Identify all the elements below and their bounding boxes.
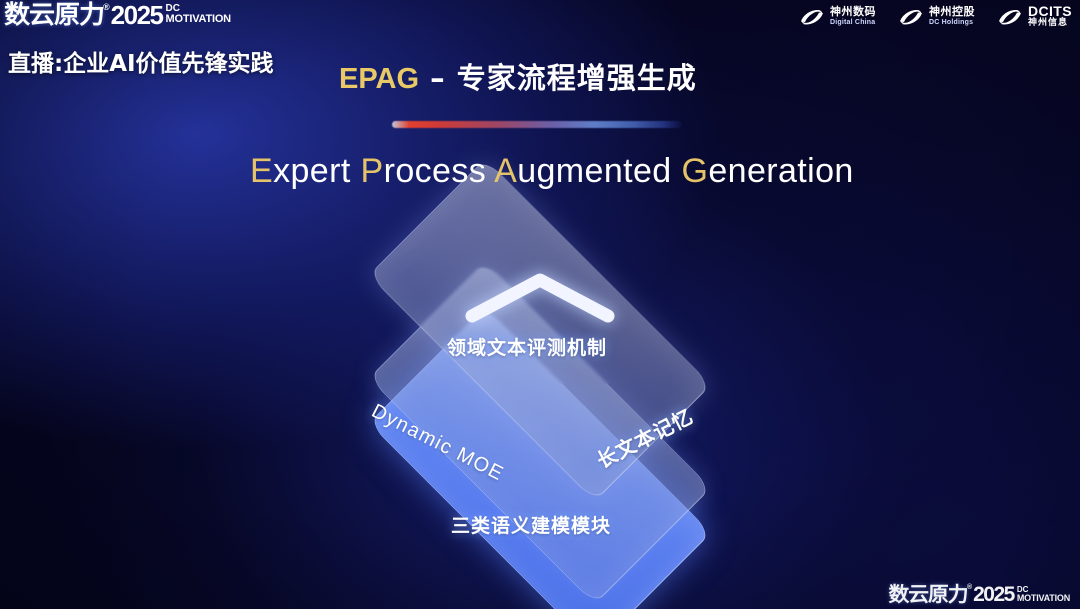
partner-label: 神州数码 Digital China — [830, 6, 876, 27]
brand-motivation: MOTIVATION — [166, 14, 231, 25]
registered-mark-icon: ® — [967, 584, 972, 591]
slide-canvas: 数云原力 ® 2025 DC MOTIVATION 直播:企业AI价值先锋实践 … — [0, 0, 1080, 609]
swirl-logo-icon — [799, 6, 825, 28]
brand-logo-topleft: 数云原力 ® 2025 DC MOTIVATION — [6, 2, 231, 28]
partner-name-en: DC Holdings — [929, 18, 975, 27]
partner-logo-dcits: DCITS 神州信息 — [997, 4, 1072, 29]
live-banner: 直播:企业AI价值先锋实践 — [8, 44, 274, 78]
gradient-divider — [392, 121, 682, 128]
subtitle-word-augmented: ugmented — [517, 152, 681, 190]
partner-name-cn: 神州信息 — [1028, 18, 1072, 29]
swirl-logo-icon — [997, 6, 1023, 28]
subtitle: Expert Process Augmented Generation — [250, 152, 854, 191]
partner-name-cn: 神州数码 — [830, 6, 876, 18]
subtitle-cap-e: E — [250, 152, 273, 190]
brand-year: 2025 — [111, 2, 163, 28]
brand-dc-motivation: DC MOTIVATION — [1017, 584, 1070, 603]
stack-label-bottom: 三类语义建模模块 — [451, 511, 611, 538]
title-acronym: EPAG — [339, 63, 419, 95]
subtitle-cap-a: A — [494, 152, 517, 190]
swirl-logo-icon — [898, 6, 924, 28]
page-title: EPAG – 专家流程增强生成 — [339, 55, 697, 97]
chevron-up-icon — [462, 268, 618, 326]
subtitle-word-expert: xpert — [273, 152, 360, 190]
partner-logo-bar: 神州数码 Digital China 神州控股 DC Holdings — [799, 4, 1072, 29]
brand-name-cn: 数云原力 — [4, 2, 104, 27]
partner-name-en: DCITS — [1028, 4, 1072, 18]
partner-label: 神州控股 DC Holdings — [929, 6, 975, 27]
partner-label: DCITS 神州信息 — [1028, 4, 1072, 29]
partner-logo-dc-holdings: 神州控股 DC Holdings — [898, 6, 975, 28]
stack-label-top: 领域文本评测机制 — [447, 333, 607, 360]
subtitle-cap-p: P — [361, 152, 384, 190]
brand-motivation: MOTIVATION — [1017, 594, 1070, 603]
partner-logo-digital-china: 神州数码 Digital China — [799, 6, 876, 28]
partner-name-cn: 神州控股 — [929, 6, 975, 18]
partner-name-en: Digital China — [830, 18, 876, 27]
registered-mark-icon: ® — [103, 2, 110, 12]
brand-year: 2025 — [973, 584, 1014, 605]
brand-name-cn: 数云原力 — [888, 584, 967, 604]
subtitle-word-generation: eneration — [708, 152, 853, 190]
brand-dc-motivation: DC MOTIVATION — [166, 2, 231, 25]
brand-logo-watermark: 数云原力 ® 2025 DC MOTIVATION — [890, 584, 1070, 605]
title-separator: – — [419, 61, 457, 95]
title-chinese: 专家流程增强生成 — [457, 61, 697, 95]
subtitle-cap-g: G — [681, 152, 708, 190]
subtitle-word-process: rocess — [384, 152, 495, 190]
